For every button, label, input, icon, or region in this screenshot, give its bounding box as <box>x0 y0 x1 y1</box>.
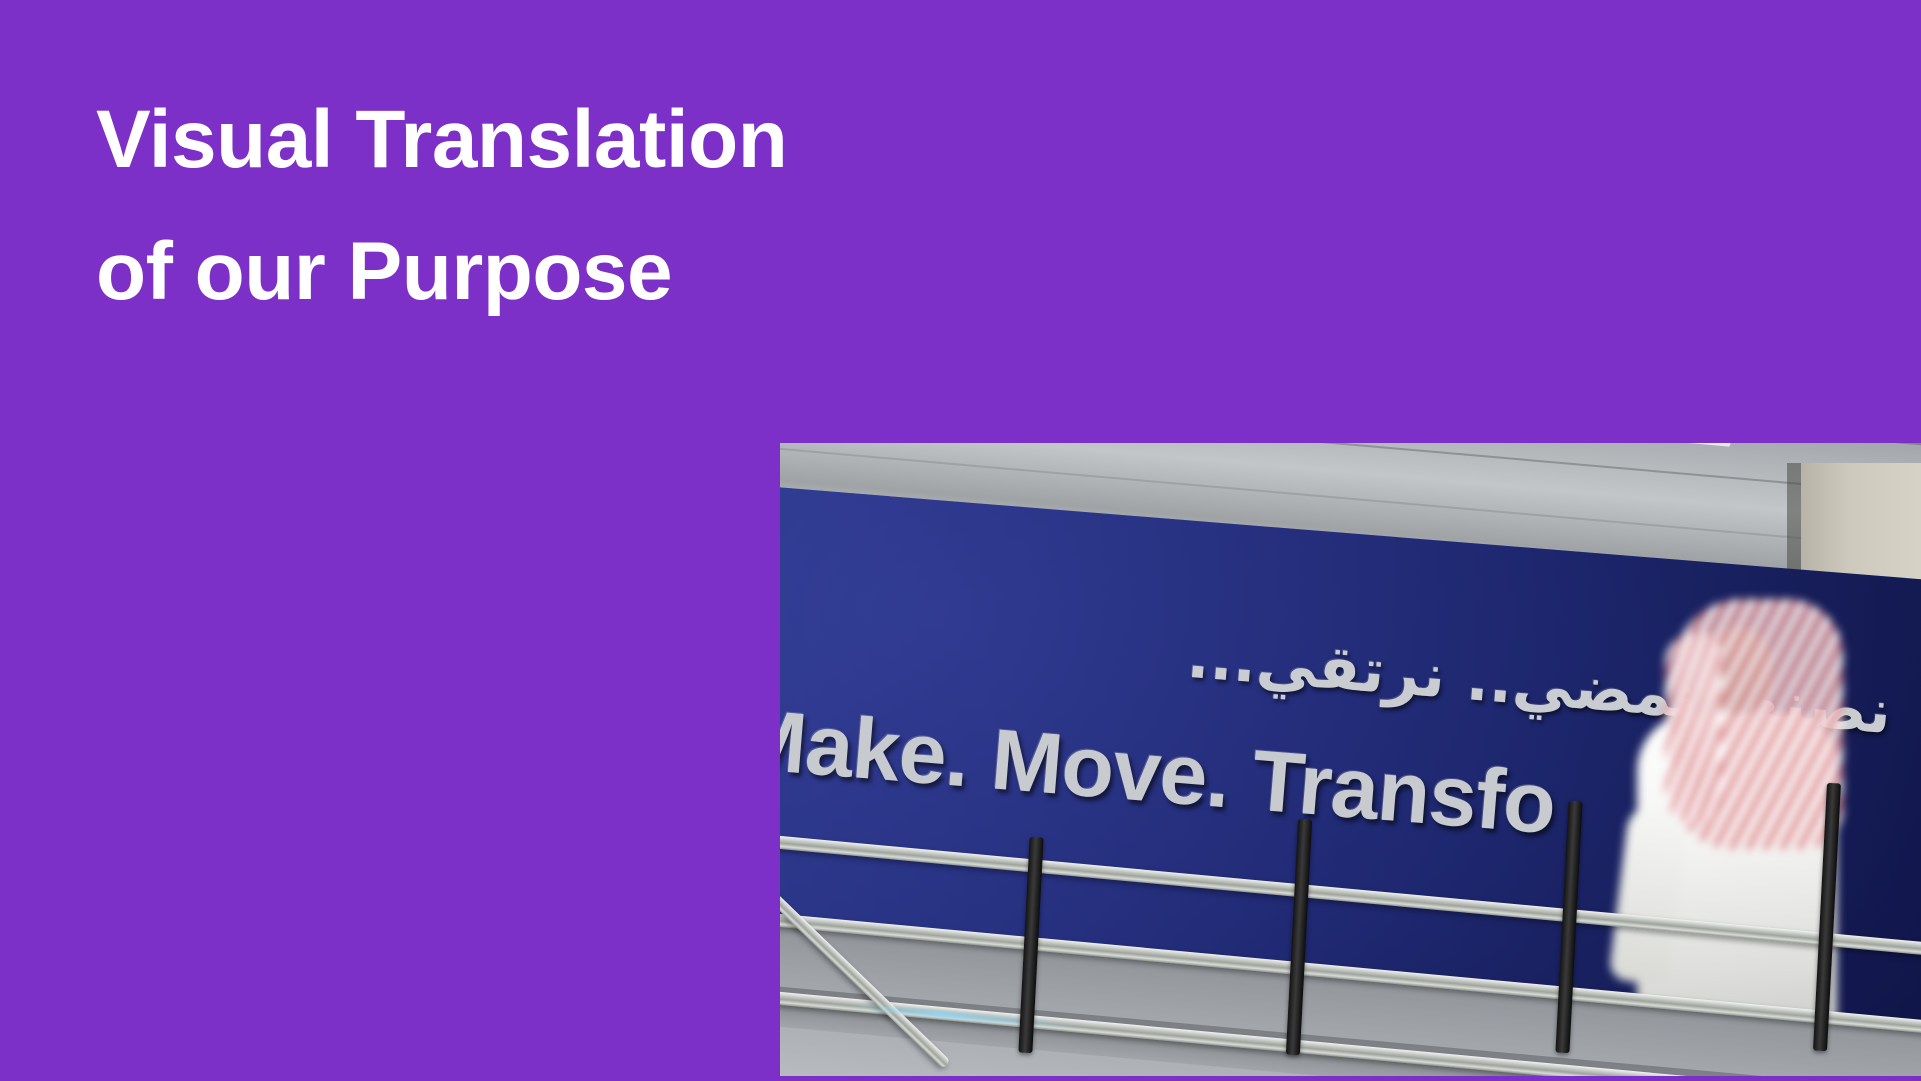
page-title-line-1: Visual Translation <box>96 74 1096 206</box>
ceiling-vent <box>1772 443 1921 446</box>
person-keffiyeh-front <box>1665 633 1721 823</box>
brand-wall-photo: نصنع. نمضي.. نرتقي... Make. Move. Transf… <box>780 443 1921 1076</box>
photo-inner: نصنع. نمضي.. نرتقي... Make. Move. Transf… <box>780 443 1921 1076</box>
ceiling-light-panel <box>1610 443 1739 447</box>
page-title: Visual Translation of our Purpose <box>96 74 1096 338</box>
bottom-purple-strip <box>780 1076 1921 1081</box>
page-title-line-2: of our Purpose <box>96 206 1096 338</box>
slide-canvas: Visual Translation of our Purpose <box>0 0 1921 1081</box>
sign-latin-tagline: Make. Move. Transfo <box>780 690 1559 855</box>
